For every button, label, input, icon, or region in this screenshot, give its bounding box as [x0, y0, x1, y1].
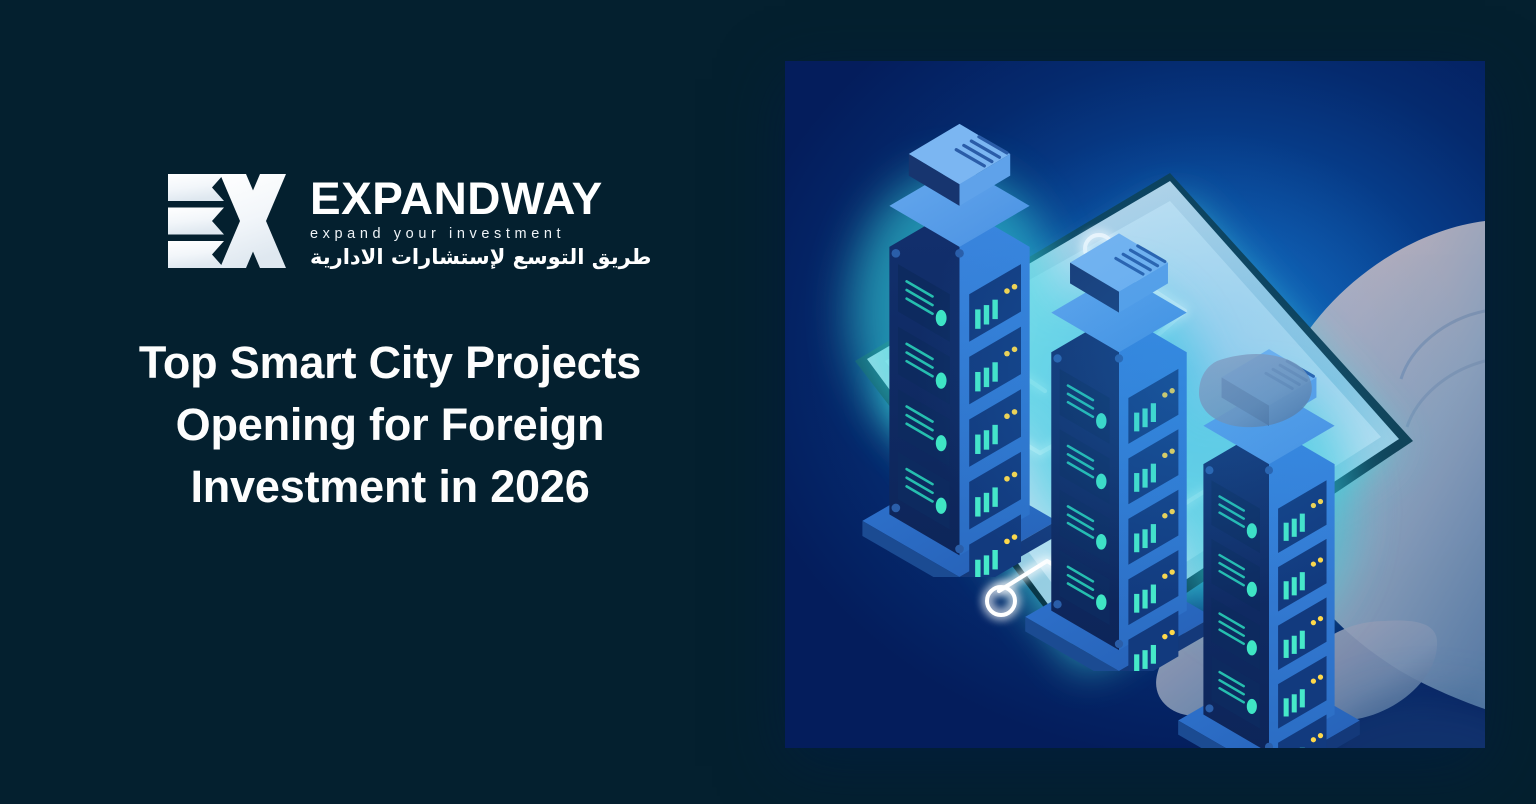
brand-arabic-tagline: طريق التوسع لإستشارات الادارية	[310, 244, 651, 270]
hero-image-panel	[785, 61, 1485, 748]
brand-logo: EXPANDWAY expand your investment طريق ال…	[166, 172, 651, 272]
brand-wordmark-group: EXPANDWAY expand your investment طريق ال…	[310, 172, 651, 270]
smart-city-servers-illustration	[785, 61, 1485, 748]
headline-line-2: Opening for Foreign	[96, 394, 684, 456]
headline-line-1: Top Smart City Projects	[96, 332, 684, 394]
left-content-column: EXPANDWAY expand your investment طريق ال…	[0, 0, 780, 804]
poster-canvas: EXPANDWAY expand your investment طريق ال…	[0, 0, 1536, 804]
brand-name: EXPANDWAY	[310, 176, 658, 222]
brand-tagline: expand your investment	[310, 225, 651, 243]
expandway-ex-monogram-icon	[166, 172, 288, 272]
headline-line-3: Investment in 2026	[96, 456, 684, 518]
page-title: Top Smart City Projects Opening for Fore…	[96, 332, 684, 518]
server-tower-1	[862, 124, 1056, 592]
